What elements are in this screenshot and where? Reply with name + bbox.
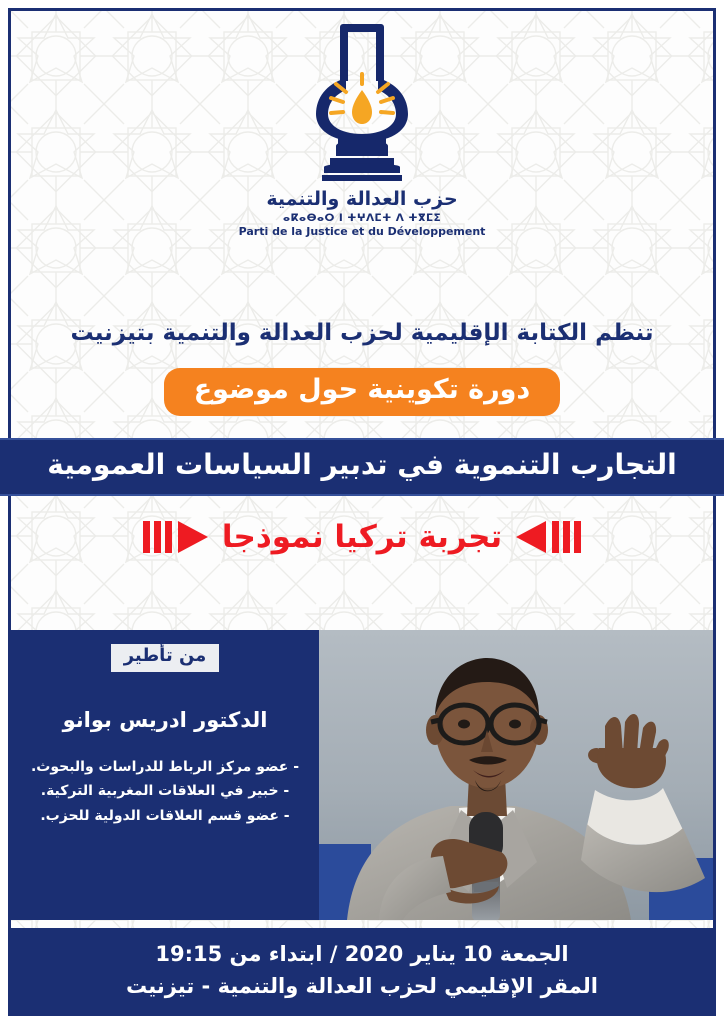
list-item: - عضو مركز الرباط للدراسات والبحوث.	[19, 755, 311, 780]
subtitle-row: تجربة تركيا نموذجا	[0, 520, 724, 554]
party-logo-block: حزب العدالة والتنمية ⴰⴽⴰⴱⴰⵔ ⵏ ⵜⵖⴷⵎⵜ ⴷ ⵜⴳ…	[0, 18, 724, 238]
speaker-info-panel: من تأطير الدكتور ادريس بوانو - عضو مركز …	[11, 630, 319, 920]
list-item: - خبير في العلاقات المغربية التركية.	[19, 779, 311, 804]
logo-french-name: Parti de la Justice et du Développement	[239, 226, 486, 238]
footer-date-line: الجمعة 10 يناير 2020 / ابتداء من 19:15	[155, 941, 568, 968]
speaker-photo	[319, 630, 713, 920]
event-type-pill: دورة تكوينية حول موضوع	[164, 368, 561, 416]
headline-block: تنظم الكتابة الإقليمية لحزب العدالة والت…	[0, 320, 724, 554]
logo-arabic-name: حزب العدالة والتنمية	[239, 190, 486, 210]
footer-venue-line: المقر الإقليمي لحزب العدالة والتنمية - ت…	[126, 973, 598, 1000]
organizer-line: تنظم الكتابة الإقليمية لحزب العدالة والت…	[0, 320, 724, 346]
speaker-section: من تأطير الدكتور ادريس بوانو - عضو مركز …	[11, 630, 713, 920]
footer-details: الجمعة 10 يناير 2020 / ابتداء من 19:15 ا…	[11, 928, 713, 1013]
subtitle-text: تجربة تركيا نموذجا	[222, 520, 502, 554]
logo-tifinagh-name: ⴰⴽⴰⴱⴰⵔ ⵏ ⵜⵖⴷⵎⵜ ⴷ ⵜⴳⵎⵉ	[239, 213, 486, 224]
list-item: - عضو قسم العلاقات الدولية للحزب.	[19, 804, 311, 829]
main-topic-banner: التجارب التنموية في تدبير السياسات العمو…	[0, 438, 724, 496]
speaker-name: الدكتور ادريس بوانو	[63, 708, 268, 733]
triangle-right-with-bars-icon	[134, 520, 208, 554]
speaker-credentials-list: - عضو مركز الرباط للدراسات والبحوث. - خب…	[11, 755, 319, 829]
role-badge: من تأطير	[111, 644, 220, 672]
lantern-lamp-logo-icon	[286, 18, 438, 186]
poster-canvas: حزب العدالة والتنمية ⴰⴽⴰⴱⴰⵔ ⵏ ⵜⵖⴷⵎⵜ ⴷ ⵜⴳ…	[0, 0, 724, 1024]
triangle-left-with-bars-icon	[516, 520, 590, 554]
party-logo-text: حزب العدالة والتنمية ⴰⴽⴰⴱⴰⵔ ⵏ ⵜⵖⴷⵎⵜ ⴷ ⵜⴳ…	[239, 190, 486, 238]
